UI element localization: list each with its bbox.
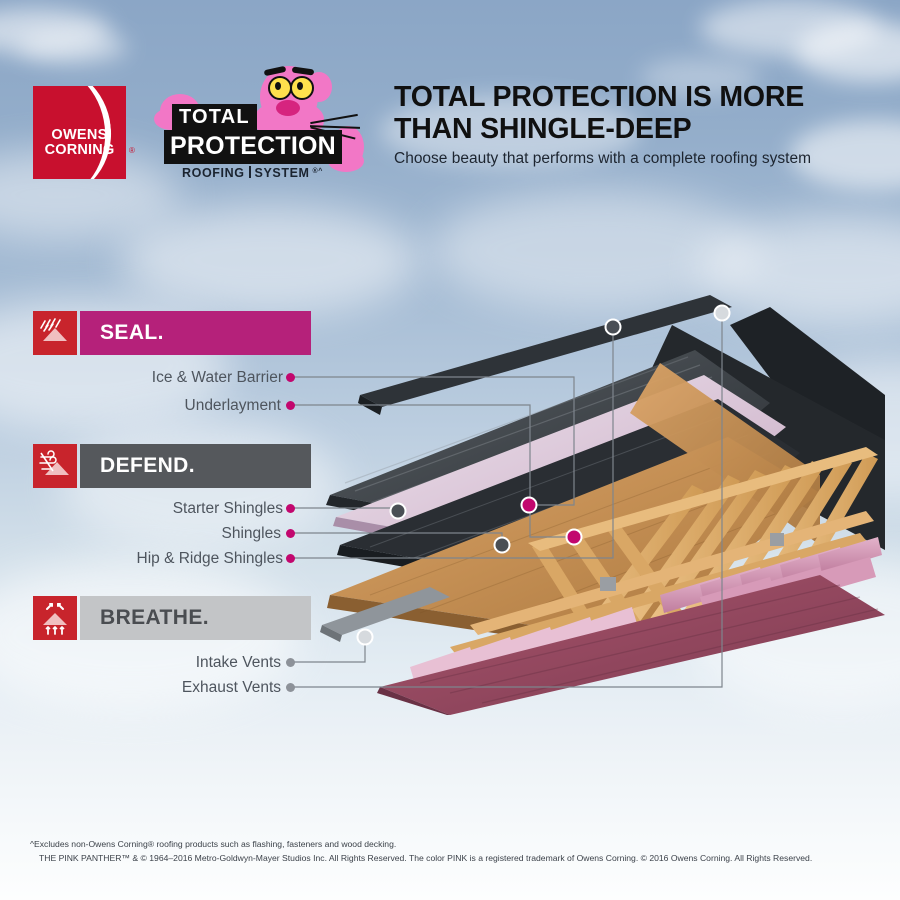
registered-mark: ®: [129, 146, 135, 155]
logo-line-2: CORNING: [33, 143, 126, 158]
panther-pupil-icon: [297, 82, 303, 90]
logo-line-1: OWENS: [33, 128, 126, 143]
callout-dot-ice-water-barrier: [286, 373, 295, 382]
cloud: [430, 190, 760, 310]
callout-label-starter-shingles: Starter Shingles: [0, 500, 283, 518]
cloud: [18, 30, 128, 64]
roof-wind-icon: [33, 444, 77, 488]
logo-word-system: SYSTEM: [255, 166, 310, 180]
cloud: [795, 22, 900, 82]
badge-bar: DEFEND.: [80, 444, 311, 488]
badge-defend[interactable]: DEFEND.: [33, 444, 311, 488]
roof-illustration: [300, 295, 885, 715]
exploded-roof-cutaway: [300, 295, 885, 715]
callout-label-underlayment: Underlayment: [0, 397, 281, 415]
callout-label-hip-ridge-shingles: Hip & Ridge Shingles: [0, 550, 283, 568]
panther-pupil-icon: [275, 82, 281, 90]
callout-dot-underlayment: [286, 401, 295, 410]
footer-line-2: THE PINK PANTHER™ & © 1964–2016 Metro-Go…: [39, 852, 880, 866]
callout-dot-hip-ridge-shingles: [286, 554, 295, 563]
logo-wordmark: OWENS CORNING: [33, 128, 126, 157]
callout-dot-exhaust-vents: [286, 683, 295, 692]
roof-rain-icon: [33, 311, 77, 355]
gusset-plate: [770, 533, 784, 546]
callout-dot-shingles: [286, 529, 295, 538]
logo-subline: ROOFINGSYSTEM®^: [182, 166, 323, 180]
panther-nose-icon: [276, 100, 300, 116]
owens-corning-logo: OWENS CORNING: [33, 86, 126, 179]
badge-seal[interactable]: SEAL.: [33, 311, 311, 355]
infographic-page: OWENS CORNING ® TOTAL PROTECTION ROOFING…: [0, 0, 900, 900]
cloud: [700, 0, 880, 56]
page-subhead: Choose beauty that performs with a compl…: [394, 150, 894, 169]
logo-word-protection: PROTECTION: [164, 130, 342, 164]
callout-label-shingles: Shingles: [0, 525, 281, 543]
badge-bar: BREATHE.: [80, 596, 311, 640]
badge-label-seal: SEAL.: [100, 311, 164, 355]
callout-label-exhaust-vents: Exhaust Vents: [0, 679, 281, 697]
callout-label-ice-water-barrier: Ice & Water Barrier: [0, 369, 283, 387]
badge-breathe[interactable]: BREATHE.: [33, 596, 311, 640]
logo-divider: [249, 166, 251, 178]
badge-label-breathe: BREATHE.: [100, 596, 209, 640]
gusset-plate: [600, 577, 616, 591]
logo-word-total: TOTAL: [172, 104, 257, 132]
footer-legal: ^Excludes non-Owens Corning® roofing pro…: [30, 838, 880, 866]
page-headline: TOTAL PROTECTION IS MORE THAN SHINGLE-DE…: [394, 82, 884, 146]
callout-dot-starter-shingles: [286, 504, 295, 513]
badge-label-defend: DEFEND.: [100, 444, 195, 488]
callout-label-intake-vents: Intake Vents: [0, 654, 281, 672]
callout-dot-intake-vents: [286, 658, 295, 667]
roof-ventilation-icon: [33, 596, 77, 640]
total-protection-logo: TOTAL PROTECTION ROOFINGSYSTEM®^: [160, 66, 365, 186]
cloud: [0, 8, 110, 54]
footer-line-1: ^Excludes non-Owens Corning® roofing pro…: [30, 838, 880, 852]
badge-bar: SEAL.: [80, 311, 311, 355]
logo-trademark: ®^: [313, 168, 323, 175]
logo-word-roofing: ROOFING: [182, 166, 245, 180]
